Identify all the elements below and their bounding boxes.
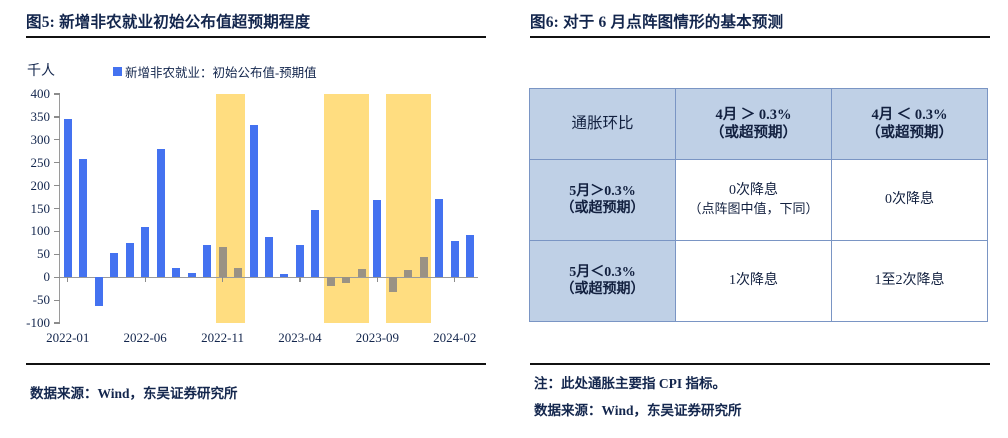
header-2-line2: （或超预期）	[834, 124, 985, 142]
bar-2023-07	[342, 277, 350, 282]
y-tick-label: 300	[10, 133, 50, 146]
x-tick-label: 2023-09	[337, 330, 417, 346]
bar-2023-05	[311, 210, 319, 277]
legend-label: 新增非农就业：初始公布值-预期值	[125, 62, 317, 81]
x-tick-label: 2022-11	[183, 330, 263, 346]
header-0-line1: 通胀环比	[532, 114, 673, 133]
row-0-head-line2: （或超预期）	[532, 200, 673, 218]
figure-page: 图5: 新增非农就业初始公布值超预期程度 千人 新增非农就业：初始公布值-预期值…	[0, 0, 1008, 438]
bar-2023-02	[265, 237, 273, 277]
y-tick-label: 100	[10, 224, 50, 237]
bar-2022-05	[126, 243, 134, 277]
bar-2024-03	[466, 235, 474, 277]
x-tick-label: 2022-01	[28, 330, 108, 346]
y-tick	[54, 185, 60, 186]
x-tick	[377, 277, 378, 282]
bar-2022-08	[172, 268, 180, 277]
row-1-cell-2: 1至2次降息	[832, 241, 988, 322]
row-1-head-line2: （或超预期）	[532, 281, 673, 299]
row-0-cell-1: 0次降息 （点阵图中值，下同）	[676, 160, 832, 241]
right-bottom-rule	[530, 363, 990, 365]
table-header-cell-2: 4月 ＜ 0.3% （或超预期）	[832, 89, 988, 160]
y-tick	[54, 208, 60, 209]
table-header-cell-0: 通胀环比	[530, 89, 676, 160]
bar-2022-01	[64, 119, 72, 277]
bar-2023-04	[296, 245, 304, 277]
x-tick	[67, 277, 68, 282]
y-tick-label: 200	[10, 179, 50, 192]
y-tick-label: -50	[10, 293, 50, 306]
bar-2022-11	[219, 247, 227, 277]
x-tick	[299, 277, 300, 282]
bar-2022-10	[203, 245, 211, 278]
bar-2022-09	[188, 273, 196, 278]
row-header-0: 5月＞0.3% （或超预期）	[530, 160, 676, 241]
row-0-cell-1-line2: （点阵图中值，下同）	[678, 201, 829, 218]
bar-2024-01	[435, 199, 443, 277]
bar-2023-01	[250, 125, 258, 277]
bar-2022-04	[110, 253, 118, 277]
y-tick	[54, 139, 60, 140]
x-tick-label: 2023-04	[260, 330, 340, 346]
bar-2023-10	[389, 277, 397, 292]
row-1-cell-1: 1次降息	[676, 241, 832, 322]
nonfarm-surprise-chart: 千人 新增非农就业：初始公布值-预期值 -100-500501001502002…	[0, 46, 504, 356]
row-0-cell-2: 0次降息	[832, 160, 988, 241]
row-1-cell-2-line1: 1至2次降息	[834, 272, 985, 290]
chart-plot-area: -100-500501001502002503003504002022-0120…	[60, 94, 478, 323]
row-0-cell-2-line1: 0次降息	[834, 191, 985, 209]
dotplot-forecast-table: 通胀环比 4月 ＞ 0.3% （或超预期） 4月 ＜ 0.3% （或超预期） 5…	[529, 88, 988, 322]
y-tick	[54, 254, 60, 255]
left-source-note: 数据来源：Wind，东吴证券研究所	[30, 382, 238, 402]
x-tick-label: 2022-06	[105, 330, 185, 346]
header-1-line2: （或超预期）	[678, 124, 829, 142]
bar-2023-06	[327, 277, 335, 286]
y-tick-label: 0	[10, 270, 50, 283]
left-figure-title: 图5: 新增非农就业初始公布值超预期程度	[26, 10, 486, 32]
x-tick	[454, 277, 455, 282]
row-0-head-line1: 5月＞0.3%	[532, 183, 673, 201]
highlight-band-0	[216, 94, 245, 323]
y-tick-label: 350	[10, 110, 50, 123]
bar-2024-02	[451, 241, 459, 277]
row-header-1: 5月＜0.3% （或超预期）	[530, 241, 676, 322]
bar-2022-07	[157, 149, 165, 278]
bar-2023-09	[373, 200, 381, 277]
bar-2023-11	[404, 270, 412, 277]
y-tick-label: 400	[10, 87, 50, 100]
right-figure-title: 图6: 对于 6 月点阵图情形的基本预测	[530, 10, 990, 32]
y-tick-label: -100	[10, 316, 50, 329]
row-1-cell-1-line1: 1次降息	[678, 272, 829, 290]
left-figure-panel: 图5: 新增非农就业初始公布值超预期程度 千人 新增非农就业：初始公布值-预期值…	[0, 0, 504, 438]
table-header-cell-1: 4月 ＞ 0.3% （或超预期）	[676, 89, 832, 160]
row-1-head-line1: 5月＜0.3%	[532, 264, 673, 282]
table-row: 5月＜0.3% （或超预期） 1次降息 1至2次降息	[530, 241, 988, 322]
right-figure-panel: 图6: 对于 6 月点阵图情形的基本预测 通胀环比 4月 ＞ 0.3% （或超预…	[504, 0, 1008, 438]
right-source-note: 数据来源：Wind，东吴证券研究所	[534, 399, 742, 419]
y-tick	[54, 231, 60, 232]
y-tick	[54, 93, 60, 94]
y-tick-label: 250	[10, 156, 50, 169]
header-1-line1: 4月 ＞ 0.3%	[678, 106, 829, 124]
highlight-band-1	[324, 94, 368, 323]
x-tick	[222, 277, 223, 282]
right-title-rule	[530, 36, 990, 38]
table-row: 5月＞0.3% （或超预期） 0次降息 （点阵图中值，下同） 0次降息	[530, 160, 988, 241]
bar-2022-12	[234, 268, 242, 278]
bar-2023-03	[280, 274, 288, 278]
y-tick	[54, 322, 60, 323]
bar-2022-02	[79, 159, 87, 277]
y-tick	[54, 300, 60, 301]
bar-2022-06	[141, 227, 149, 277]
row-0-cell-1-line1: 0次降息	[678, 182, 829, 200]
left-bottom-rule	[26, 363, 486, 365]
header-2-line1: 4月 ＜ 0.3%	[834, 106, 985, 124]
x-tick	[145, 277, 146, 282]
legend-swatch-icon	[113, 67, 122, 76]
bar-2022-03	[95, 277, 103, 306]
left-title-rule	[26, 36, 486, 38]
x-tick-label: 2024-02	[415, 330, 495, 346]
y-tick-label: 50	[10, 247, 50, 260]
right-note: 注：此处通胀主要指 CPI 指标。	[534, 372, 726, 392]
table-header-row: 通胀环比 4月 ＞ 0.3% （或超预期） 4月 ＜ 0.3% （或超预期）	[530, 89, 988, 160]
bar-2023-08	[358, 269, 366, 277]
chart-unit-label: 千人	[27, 60, 55, 80]
chart-legend: 新增非农就业：初始公布值-预期值	[113, 62, 317, 81]
y-tick	[54, 116, 60, 117]
y-tick	[54, 162, 60, 163]
y-tick-label: 150	[10, 202, 50, 215]
bar-2023-12	[420, 257, 428, 277]
